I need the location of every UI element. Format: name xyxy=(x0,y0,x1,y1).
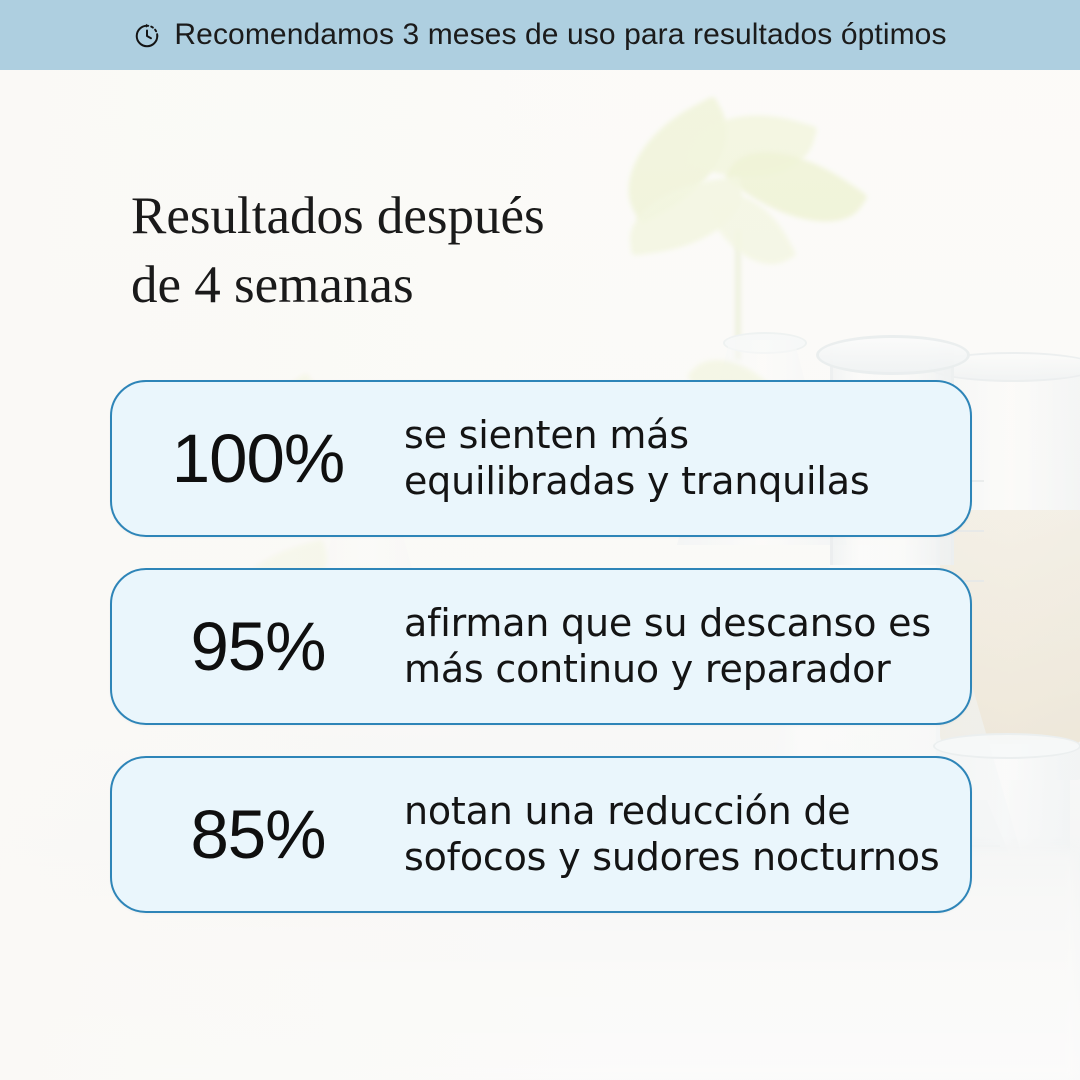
stat-card-list: 100% se sienten más equilibradas y tranq… xyxy=(110,380,972,913)
clock-timer-icon xyxy=(133,22,161,50)
stat-description-line-1: se sienten más xyxy=(404,413,944,458)
stat-description-line-2: equilibradas y tranquilas xyxy=(404,459,944,504)
promo-graphic: 40 Recomendamos 3 meses de uso para resu… xyxy=(0,0,1080,1080)
stat-percent: 100% xyxy=(112,424,404,493)
stat-percent: 85% xyxy=(112,800,404,869)
stat-description-line-1: afirman que su descanso es xyxy=(404,601,944,646)
banner-text: Recomendamos 3 meses de uso para resulta… xyxy=(174,18,946,52)
stat-description-line-2: sofocos y sudores nocturnos xyxy=(404,835,944,880)
recommendation-banner: Recomendamos 3 meses de uso para resulta… xyxy=(0,0,1080,70)
stat-description: notan una reducción de sofocos y sudores… xyxy=(404,789,970,879)
stat-description-line-1: notan una reducción de xyxy=(404,789,944,834)
stat-description: afirman que su descanso es más continuo … xyxy=(404,601,970,691)
page-title-line-2: de 4 semanas xyxy=(131,251,771,321)
stat-card: 100% se sienten más equilibradas y tranq… xyxy=(110,380,972,537)
page-title: Resultados después de 4 semanas xyxy=(131,182,771,322)
stat-card: 95% afirman que su descanso es más conti… xyxy=(110,568,972,725)
stat-card: 85% notan una reducción de sofocos y sud… xyxy=(110,756,972,913)
stat-percent: 95% xyxy=(112,612,404,681)
stat-description: se sienten más equilibradas y tranquilas xyxy=(404,413,970,503)
page-title-line-1: Resultados después xyxy=(131,187,545,245)
stat-description-line-2: más continuo y reparador xyxy=(404,647,944,692)
